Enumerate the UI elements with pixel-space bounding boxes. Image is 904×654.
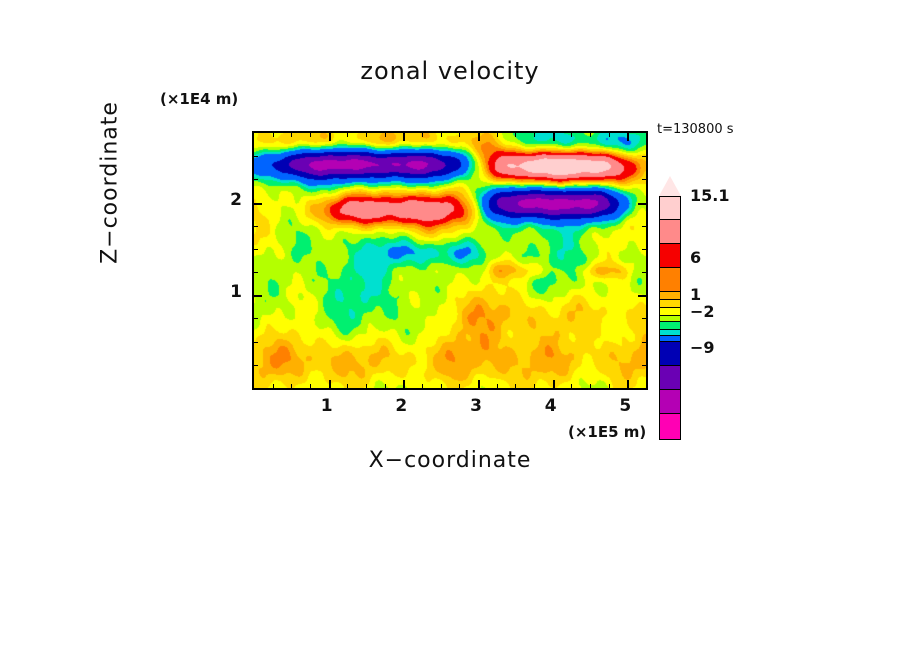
axis-tick <box>273 133 274 137</box>
x-axis-unit-label: (×1E5 m) <box>568 423 646 441</box>
colorbar <box>659 176 681 440</box>
time-annotation: t=130800 s <box>657 122 734 137</box>
axis-tick <box>347 384 348 388</box>
x-tick-label: 1 <box>312 396 342 416</box>
axis-tick <box>385 384 386 388</box>
axis-tick <box>627 380 629 388</box>
y-axis-unit-label: (×1E4 m) <box>160 90 238 108</box>
axis-tick <box>422 133 423 137</box>
axis-tick <box>254 342 258 343</box>
x-tick-label: 2 <box>386 396 416 416</box>
contour-field <box>254 133 646 388</box>
x-tick-label: 5 <box>610 396 640 416</box>
axis-tick <box>459 133 460 137</box>
axis-tick <box>642 156 646 157</box>
axis-tick <box>254 318 258 319</box>
colorbar-band <box>659 300 681 308</box>
colorbar-tick-label: −2 <box>690 302 715 321</box>
axis-tick <box>515 384 516 388</box>
colorbar-band <box>659 220 681 244</box>
axis-tick <box>590 133 591 137</box>
axis-tick <box>329 133 331 141</box>
axis-tick <box>291 384 292 388</box>
contour-plot-area <box>252 131 648 390</box>
chart-title: zonal velocity <box>252 57 648 85</box>
axis-tick <box>478 133 480 141</box>
colorbar-tick-label: 15.1 <box>690 186 729 205</box>
axis-tick <box>638 203 646 205</box>
axis-tick <box>553 133 555 141</box>
axis-tick <box>366 133 367 137</box>
axis-tick <box>642 249 646 250</box>
axis-tick <box>627 133 629 141</box>
axis-tick <box>254 203 262 205</box>
axis-tick <box>642 365 646 366</box>
axis-tick <box>571 384 572 388</box>
axis-tick <box>497 133 498 137</box>
axis-tick <box>329 380 331 388</box>
axis-tick <box>441 384 442 388</box>
y-tick-label: 2 <box>212 190 242 210</box>
axis-tick <box>642 318 646 319</box>
axis-tick <box>478 380 480 388</box>
axis-tick <box>254 226 258 227</box>
colorbar-band <box>659 268 681 292</box>
colorbar-tick-label: 6 <box>690 248 701 267</box>
colorbar-band <box>659 308 681 316</box>
axis-tick <box>403 380 405 388</box>
colorbar-band <box>659 366 681 390</box>
axis-tick <box>403 133 405 141</box>
axis-tick <box>422 384 423 388</box>
axis-tick <box>571 133 572 137</box>
axis-tick <box>642 226 646 227</box>
axis-tick <box>273 384 274 388</box>
colorbar-band <box>659 414 681 440</box>
axis-tick <box>553 380 555 388</box>
colorbar-band <box>659 292 681 300</box>
axis-tick <box>291 133 292 137</box>
colorbar-top-arrow <box>659 176 681 196</box>
axis-tick <box>642 179 646 180</box>
axis-tick <box>534 384 535 388</box>
axis-tick <box>638 295 646 297</box>
axis-tick <box>441 133 442 137</box>
axis-tick <box>642 342 646 343</box>
figure-canvas: zonal velocity (×1E4 m) t=130800 s Z−coo… <box>0 0 904 654</box>
y-tick-label: 1 <box>212 282 242 302</box>
axis-tick <box>254 179 258 180</box>
axis-tick <box>385 133 386 137</box>
axis-tick <box>254 249 258 250</box>
axis-tick <box>459 384 460 388</box>
axis-tick <box>515 133 516 137</box>
colorbar-band <box>659 196 681 220</box>
axis-tick <box>497 384 498 388</box>
axis-tick <box>609 384 610 388</box>
axis-tick <box>310 384 311 388</box>
axis-tick <box>254 295 262 297</box>
colorbar-band <box>659 342 681 366</box>
y-axis-title: Z−coordinate <box>98 53 123 313</box>
x-tick-label: 3 <box>461 396 491 416</box>
colorbar-band <box>659 322 681 330</box>
colorbar-band <box>659 244 681 268</box>
axis-tick <box>534 133 535 137</box>
axis-tick <box>254 365 258 366</box>
axis-tick <box>642 272 646 273</box>
axis-tick <box>254 156 258 157</box>
axis-tick <box>310 133 311 137</box>
axis-tick <box>254 272 258 273</box>
colorbar-tick-label: −9 <box>690 338 715 357</box>
x-axis-title: X−coordinate <box>252 448 648 473</box>
colorbar-band <box>659 390 681 414</box>
axis-tick <box>366 384 367 388</box>
x-tick-label: 4 <box>536 396 566 416</box>
axis-tick <box>347 133 348 137</box>
axis-tick <box>609 133 610 137</box>
axis-tick <box>590 384 591 388</box>
